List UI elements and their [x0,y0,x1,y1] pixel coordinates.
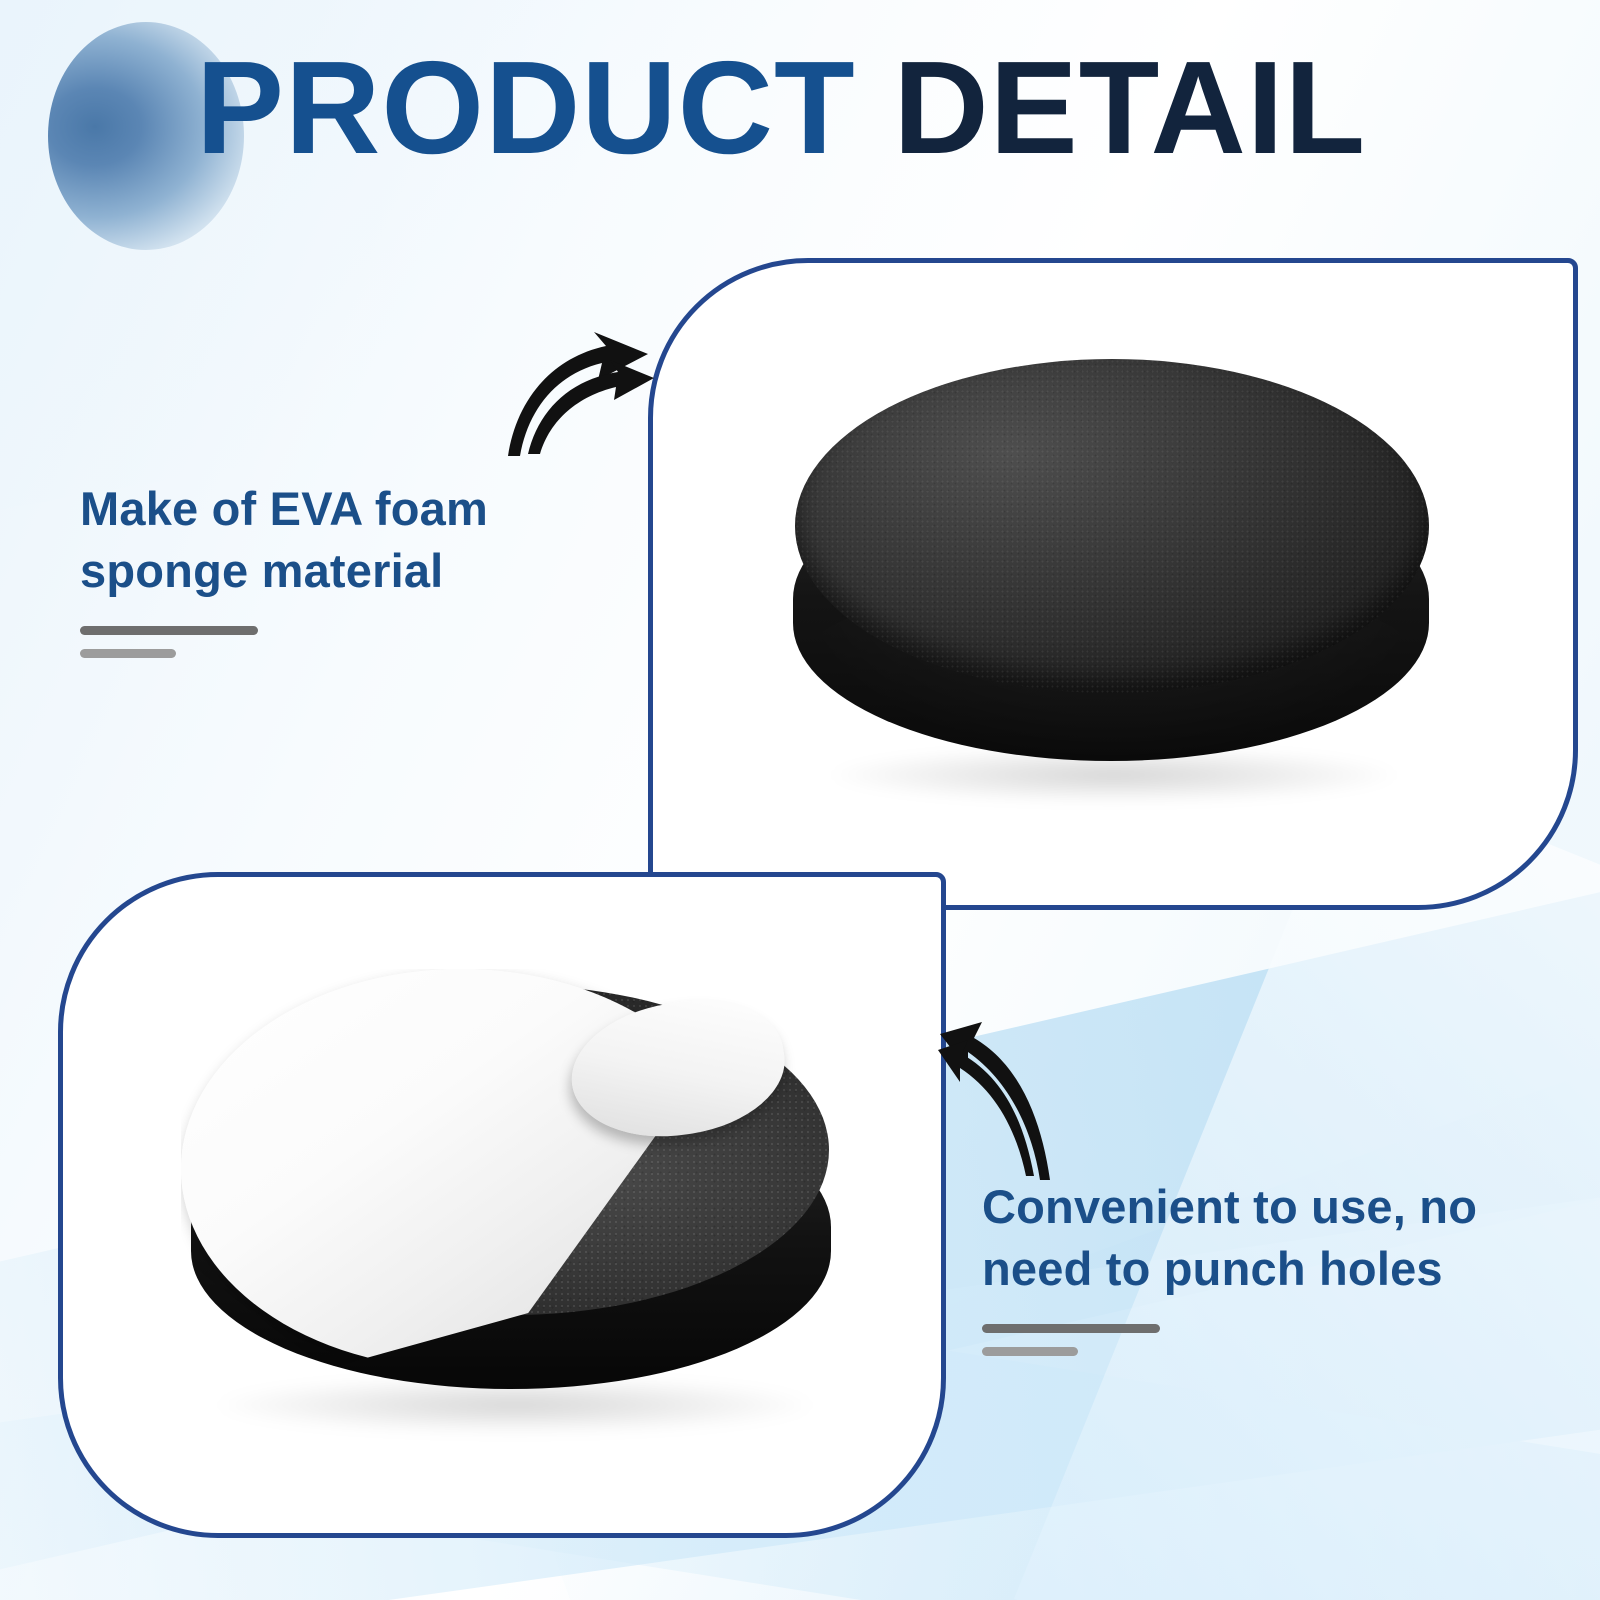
product-photo-adhesive-disc [175,969,855,1449]
page-title-spacer [856,34,894,181]
product-detail-page: PRODUCT DETAIL [0,0,1600,1600]
product-photo-foam-disc [783,351,1443,831]
curved-arrow-up-left-icon [938,1004,1058,1184]
rule-long [80,626,258,635]
foam-texture-overlay [795,359,1429,693]
feature-material: Make of EVA foam sponge material [80,478,600,658]
feature-convenience: Convenient to use, no need to punch hole… [982,1176,1542,1356]
feature-material-rules [80,626,600,658]
panel-foam-disc [648,258,1578,910]
feature-convenience-label: Convenient to use, no need to punch hole… [982,1176,1542,1300]
page-title-secondary: DETAIL [893,34,1366,181]
rule-short [80,649,176,658]
rule-short [982,1347,1078,1356]
feature-material-label: Make of EVA foam sponge material [80,478,600,602]
panel-adhesive-backing [58,872,946,1538]
rule-long [982,1324,1160,1333]
page-title: PRODUCT DETAIL [196,42,1576,174]
page-title-primary: PRODUCT [196,34,856,181]
feature-convenience-rules [982,1324,1542,1356]
foam-disc-top-face [795,359,1429,693]
curved-arrow-up-right-icon [498,330,658,460]
